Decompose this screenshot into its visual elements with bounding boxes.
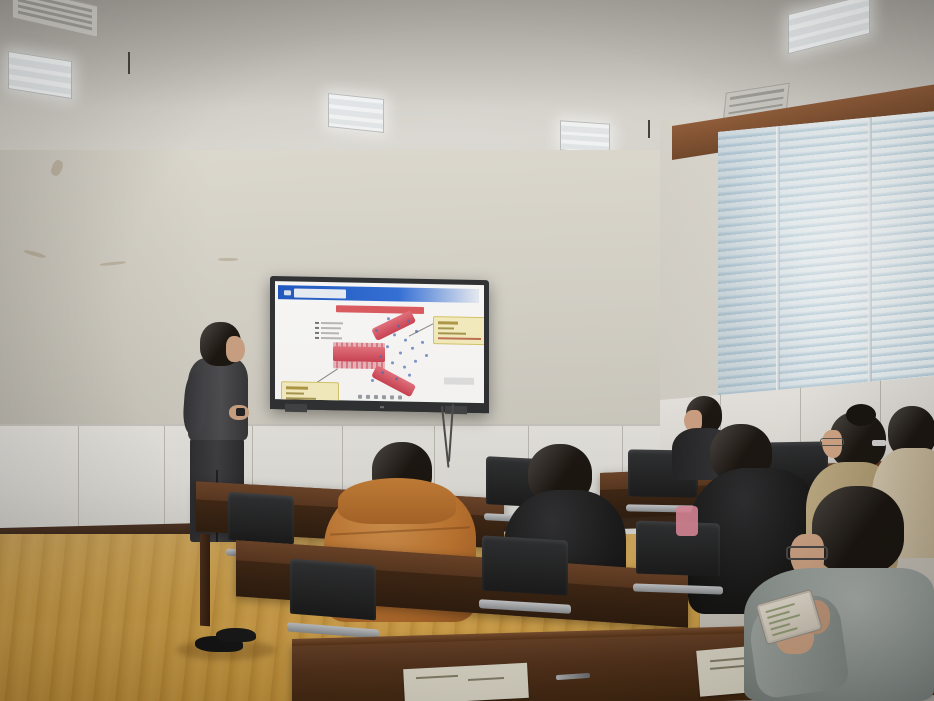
chair-r2-a[interactable] bbox=[290, 559, 376, 636]
ceiling-hanger-right bbox=[648, 120, 650, 138]
hair-clip bbox=[872, 440, 886, 446]
wall-mounted-tv[interactable] bbox=[270, 276, 489, 413]
callout-right bbox=[433, 316, 484, 345]
puffer-hood bbox=[338, 478, 456, 524]
tv-mount-bracket-left bbox=[285, 404, 307, 412]
vessel-diagram bbox=[333, 324, 419, 384]
hair-bun bbox=[846, 404, 876, 426]
ceiling-light-mid bbox=[328, 93, 384, 133]
slide-legend bbox=[315, 322, 345, 341]
chair-r2-b[interactable] bbox=[482, 535, 568, 610]
slide-header-title bbox=[294, 288, 346, 298]
ceiling-light-right bbox=[560, 120, 610, 153]
presenter-shoe-right bbox=[216, 628, 256, 642]
conference-room-photo bbox=[0, 0, 934, 701]
table-row-1-leg bbox=[200, 534, 210, 627]
wall-scuff-4 bbox=[218, 258, 238, 261]
pink-item bbox=[676, 506, 698, 536]
presentation-clicker[interactable] bbox=[236, 408, 245, 416]
presenter-face bbox=[226, 336, 245, 362]
ceiling-hanger-left bbox=[128, 52, 130, 74]
paper-sheet bbox=[403, 663, 529, 701]
tv-mount-bracket-right bbox=[445, 406, 467, 414]
slide-watermark bbox=[444, 377, 474, 385]
slide-controls[interactable] bbox=[358, 395, 402, 400]
slide-header-number bbox=[284, 290, 291, 295]
eyeglasses bbox=[820, 438, 844, 446]
tv-screen bbox=[275, 281, 484, 403]
tv-power-led bbox=[380, 406, 384, 408]
eyeglasses-fleece bbox=[786, 546, 828, 560]
slide-header-bar bbox=[278, 285, 479, 303]
